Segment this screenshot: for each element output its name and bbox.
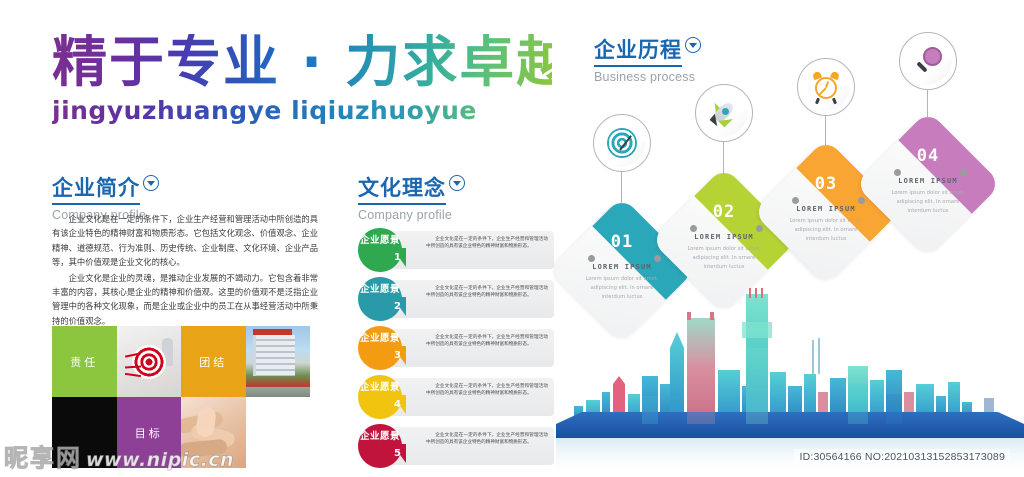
city-skyline-illustration — [556, 288, 1024, 476]
hand-shape — [181, 439, 228, 459]
business-process-timeline: 01 LOREM IPSUM Lorem ipsum dolor sit ame… — [575, 28, 1024, 328]
rocket-flame — [710, 114, 723, 127]
culture-heading-en: Company profile — [358, 208, 465, 222]
culture-item-5[interactable]: 企业文化是在一定的条件下，企业生产经营和管理活动中所创造的具有该企业特色的精神财… — [358, 424, 554, 468]
culture-badge-label: 企业愿景 — [358, 284, 402, 296]
culture-item-text-bar: 企业文化是在一定的条件下，企业生产经营和管理活动中所创造的具有该企业特色的精神财… — [388, 427, 554, 465]
collage-cell-responsibility: 责任 — [52, 326, 117, 397]
skyline-buildings — [574, 288, 994, 424]
culture-list: 企业文化是在一定的条件下，企业生产经营和管理活动中所创造的具有该企业特色的精神财… — [358, 228, 554, 473]
culture-badge-circle: 企业愿景 — [358, 424, 402, 468]
company-profile-paragraph: 企业文化是企业的灵魂，是推动企业发展的不竭动力。它包含着非常丰富的内容，其核心是… — [52, 271, 318, 329]
connector-dot — [894, 169, 901, 176]
alarm-clock-icon — [809, 70, 843, 104]
main-title-cn: 精于专业 · 力求卓越 — [52, 34, 552, 92]
culture-item-text-bar: 企业文化是在一定的条件下，企业生产经营和管理活动中所创造的具有该企业特色的精神财… — [388, 231, 554, 269]
main-title-en: jingyuzhuangye liqiuzhuoyue — [52, 96, 552, 125]
collage-cell-building-photo — [246, 326, 311, 397]
main-title: 精于专业 · 力求卓越 jingyuzhuangye liqiuzhuoyue — [52, 34, 552, 125]
culture-item-1[interactable]: 企业文化是在一定的条件下，企业生产经营和管理活动中所创造的具有该企业特色的精神财… — [358, 228, 554, 272]
culture-item-text-bar: 企业文化是在一定的条件下，企业生产经营和管理活动中所创造的具有该企业特色的精神财… — [388, 280, 554, 318]
culture-heading-cn: 文化理念 — [358, 172, 446, 205]
city-skyline-svg — [556, 288, 1024, 476]
collage-label-unity: 团结 — [181, 354, 246, 370]
culture-item-2[interactable]: 企业文化是在一定的条件下，企业生产经营和管理活动中所创造的具有该企业特色的精神财… — [358, 277, 554, 321]
chevron-down-icon — [143, 175, 159, 191]
culture-badge-label: 企业愿景 — [358, 235, 402, 247]
connector-dot — [960, 169, 967, 176]
process-icon-circle-01 — [593, 114, 651, 172]
culture-badge-circle: 企业愿景 — [358, 375, 402, 419]
company-profile-body: 企业文化是在一定的条件下，企业生产经营和管理活动中所创造的具有该企业特色的精神财… — [52, 212, 318, 328]
connector-dot — [792, 197, 799, 204]
culture-item-text: 企业文化是在一定的条件下，企业生产经营和管理活动中所创造的具有该企业特色的精神财… — [426, 236, 548, 251]
image-collage: 责任 团结 目标 — [52, 326, 310, 468]
collage-cell-hands-photo — [181, 397, 246, 468]
culture-item-3[interactable]: 企业文化是在一定的条件下，企业生产经营和管理活动中所创造的具有该企业特色的精神财… — [358, 326, 554, 370]
culture-badge-number: 4 — [394, 399, 401, 410]
process-icon-circle-03 — [797, 58, 855, 116]
connector-dot — [858, 197, 865, 204]
culture-badge-label: 企业愿景 — [358, 382, 402, 394]
culture-badge-number: 5 — [394, 448, 401, 459]
clock-face — [815, 77, 837, 99]
skyline-base — [556, 412, 1024, 438]
process-icon-circle-02 — [695, 84, 753, 142]
culture-item-text: 企业文化是在一定的条件下，企业生产经营和管理活动中所创造的具有该企业特色的精神财… — [426, 432, 548, 447]
alarm-leg — [815, 98, 820, 105]
company-profile-heading-cn: 企业简介 — [52, 172, 140, 205]
rocket-icon — [707, 96, 741, 130]
culture-item-text: 企业文化是在一定的条件下，企业生产经营和管理活动中所创造的具有该企业特色的精神财… — [426, 285, 548, 300]
office-building-image — [253, 335, 294, 376]
process-card-surface — [854, 110, 1001, 257]
rocket-window — [722, 108, 729, 115]
connector-dot — [654, 255, 661, 262]
culture-item-4[interactable]: 企业文化是在一定的条件下，企业生产经营和管理活动中所创造的具有该企业特色的精神财… — [358, 375, 554, 419]
culture-item-text: 企业文化是在一定的条件下，企业生产经营和管理活动中所创造的具有该企业特色的精神财… — [426, 334, 548, 349]
culture-badge-label: 企业愿景 — [358, 431, 402, 443]
culture-item-text-bar: 企业文化是在一定的条件下，企业生产经营和管理活动中所创造的具有该企业特色的精神财… — [388, 329, 554, 367]
connector-dot — [756, 225, 763, 232]
target-icon — [607, 128, 637, 158]
culture-badge-circle: 企业愿景 — [358, 326, 402, 370]
magnifier-icon — [911, 44, 945, 78]
collage-label-responsibility: 责任 — [52, 354, 117, 370]
culture-badge-number: 2 — [394, 301, 401, 312]
section-heading-culture: 文化理念 Company profile — [358, 172, 465, 222]
chevron-down-icon — [449, 175, 465, 191]
arrow-icon — [619, 135, 632, 150]
culture-badge-number: 3 — [394, 350, 401, 361]
process-card-04: 04 LOREM IPSUM Lorem ipsum dolor sit ame… — [854, 110, 1001, 257]
poster-canvas: 精于专业 · 力求卓越 jingyuzhuangye liqiuzhuoyue … — [0, 0, 1024, 477]
collage-cell-black-block — [52, 397, 117, 468]
alarm-leg — [832, 98, 837, 105]
culture-badge-circle: 企业愿景 — [358, 228, 402, 272]
collage-label-goal: 目标 — [117, 425, 182, 441]
connector-dot — [588, 255, 595, 262]
dartboard-icon — [132, 345, 166, 379]
collage-cell-target-photo — [117, 326, 182, 397]
asset-id-label: ID:30564166 NO:20210313152853173089 — [794, 449, 1010, 465]
process-icon-circle-04 — [899, 32, 957, 90]
culture-item-text: 企业文化是在一定的条件下，企业生产经营和管理活动中所创造的具有该企业特色的精神财… — [426, 383, 548, 398]
connector-dot — [690, 225, 697, 232]
clock-hand-minute — [819, 87, 826, 94]
culture-badge-circle: 企业愿景 — [358, 277, 402, 321]
arrow-icon — [124, 373, 140, 377]
process-card-cap — [894, 110, 1001, 217]
magnifier-handle — [916, 61, 927, 72]
collage-cell-unity: 团结 — [181, 326, 246, 397]
culture-badge-label: 企业愿景 — [358, 333, 402, 345]
culture-badge-number: 1 — [394, 252, 401, 263]
road-strip — [246, 387, 311, 397]
company-profile-paragraph: 企业文化是在一定的条件下，企业生产经营和管理活动中所创造的具有该企业特色的精神财… — [52, 212, 318, 270]
culture-item-text-bar: 企业文化是在一定的条件下，企业生产经营和管理活动中所创造的具有该企业特色的精神财… — [388, 378, 554, 416]
magnifier-lens — [923, 47, 942, 66]
collage-cell-goal: 目标 — [117, 397, 182, 468]
